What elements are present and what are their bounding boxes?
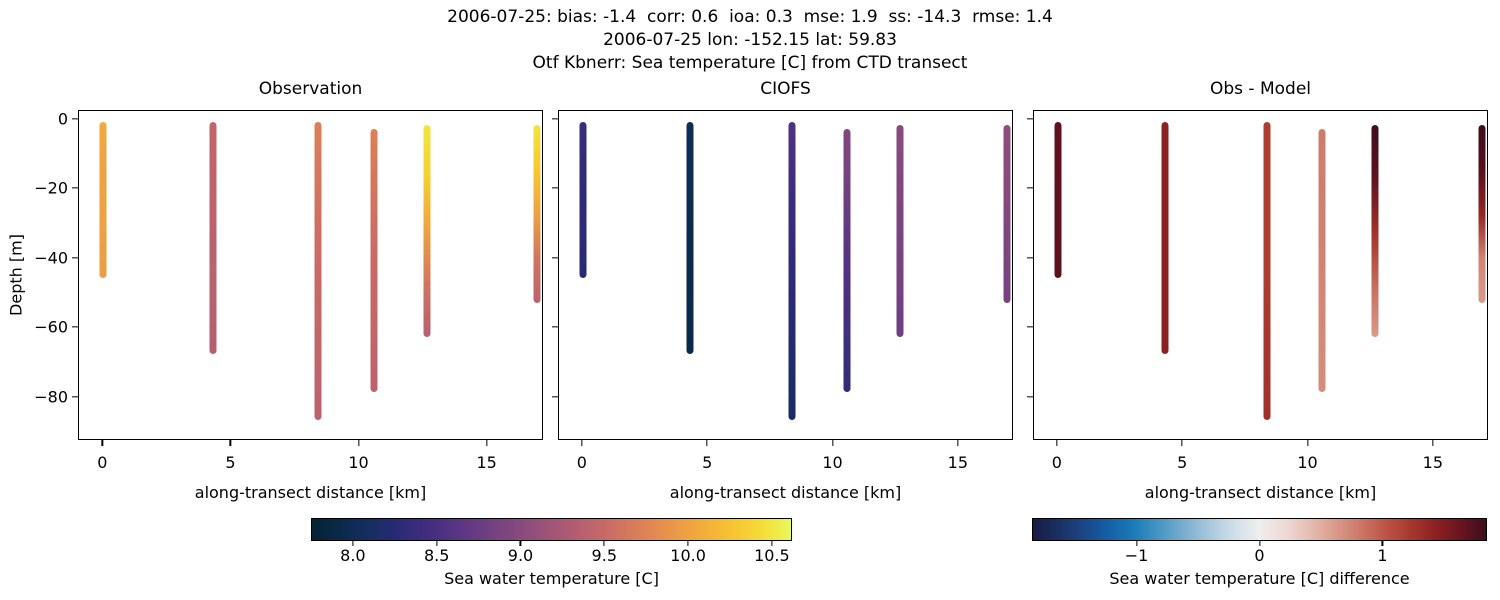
colorbar-tick-label: 10.0 [670,546,706,565]
panel-ciofs: CIOFS051015along-transect distance [km] [558,110,1013,440]
x-tick-label: 10 [1297,453,1317,472]
colorbar-tick-label: 1 [1377,546,1387,565]
x-tick-label: 5 [1177,453,1187,472]
x-tick [1432,440,1433,446]
y-tick [72,257,78,258]
profile-column [1371,125,1378,337]
suptitle-dataset: Otf Kbnerr: Sea temperature [C] from CTD… [0,52,1500,74]
colorbar-tick-label: 9.0 [508,546,533,565]
profile-column [1162,122,1169,354]
profile-column [789,122,796,420]
x-tick-label: 0 [577,453,587,472]
profile-column [100,122,107,278]
x-tick [102,440,103,446]
y-tick [72,326,78,327]
profile-column [687,122,694,354]
profile-column [896,125,903,337]
y-tick [552,118,558,119]
panel-title-difference: Obs - Model [1033,79,1488,99]
colorbar-tick-label: −1 [1125,546,1149,565]
axes-box-difference [1033,110,1488,440]
x-tick [707,440,708,446]
x-axis-label: along-transect distance [km] [78,483,543,502]
x-tick [358,440,359,446]
x-tick-label: 15 [948,453,968,472]
x-tick-label: 15 [476,453,496,472]
profile-column [424,125,431,337]
colorbar-label-temperature: Sea water temperature [C] [311,569,792,588]
axes-box-ciofs [558,110,1013,440]
profile-column [844,129,851,392]
x-tick [832,440,833,446]
x-tick [1182,440,1183,446]
y-tick [72,118,78,119]
profile-column [1004,125,1011,302]
y-tick [1027,118,1033,119]
panel-difference: Obs - Model051015along-transect distance… [1033,110,1488,440]
profile-column [1479,125,1486,302]
x-axis-label: along-transect distance [km] [558,483,1013,502]
suptitle-statistics: 2006-07-25: bias: -1.4 corr: 0.6 ioa: 0.… [0,6,1500,28]
x-tick [486,440,487,446]
y-tick [552,257,558,258]
x-tick-label: 10 [348,453,368,472]
y-tick [72,396,78,397]
profile-column [370,129,377,392]
panel-title-observation: Observation [78,79,543,99]
axes-box-observation [78,110,543,440]
colorbar-tick-label: 8.5 [424,546,449,565]
profile-column [314,122,321,420]
profile-column [1054,122,1061,278]
colorbar-tick-label: 8.0 [340,546,365,565]
colorbar-gradient-difference [1032,518,1487,541]
profile-column [579,122,586,278]
y-tick [552,188,558,189]
figure-canvas: 2006-07-25: bias: -1.4 corr: 0.6 ioa: 0.… [0,0,1500,600]
x-tick [1056,440,1057,446]
profile-column [209,122,216,354]
profile-column [533,125,540,302]
y-tick [552,326,558,327]
y-tick-label: −60 [34,318,68,337]
y-tick [552,396,558,397]
y-tick-label: −40 [34,248,68,267]
x-tick-label: 5 [702,453,712,472]
x-tick-label: 15 [1423,453,1443,472]
x-tick-label: 0 [97,453,107,472]
colorbar-difference: −101Sea water temperature [C] difference [1032,518,1487,598]
y-tick-label: −80 [34,387,68,406]
y-tick [72,188,78,189]
colorbar-label-difference: Sea water temperature [C] difference [1032,569,1487,588]
profile-column [1264,122,1271,420]
panel-title-ciofs: CIOFS [558,79,1013,99]
x-tick [957,440,958,446]
y-tick [1027,257,1033,258]
profile-column [1319,129,1326,392]
suptitle-location: 2006-07-25 lon: -152.15 lat: 59.83 [0,29,1500,51]
panel-observation: Observation0510150−20−40−60−80along-tran… [78,110,543,440]
x-tick [581,440,582,446]
y-axis-label: Depth [m] [7,234,26,316]
x-tick [230,440,231,446]
y-tick [1027,326,1033,327]
x-tick-label: 5 [225,453,235,472]
y-tick-label: 0 [58,109,68,128]
colorbar-tick-label: 0 [1254,546,1264,565]
colorbar-gradient-temperature [311,518,792,541]
colorbar-tick-label: 9.5 [592,546,617,565]
y-tick [1027,396,1033,397]
x-axis-label: along-transect distance [km] [1033,483,1488,502]
colorbar-temperature: 8.08.59.09.510.010.5Sea water temperatur… [311,518,792,598]
x-tick-label: 10 [822,453,842,472]
colorbar-tick-label: 10.5 [754,546,790,565]
x-tick [1307,440,1308,446]
y-tick-label: −20 [34,179,68,198]
x-tick-label: 0 [1052,453,1062,472]
y-tick [1027,188,1033,189]
